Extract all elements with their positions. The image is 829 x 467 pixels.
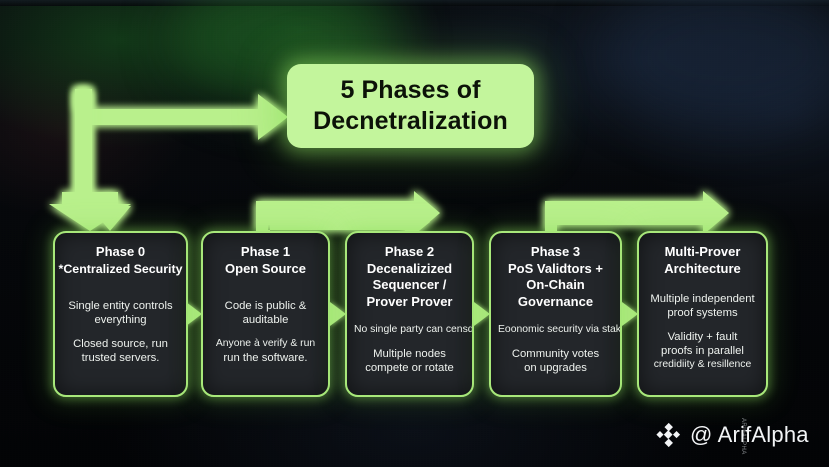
phase-card-4-heading-1: Architecture — [664, 261, 741, 278]
phase-card-3-line-3: on upgrades — [498, 361, 613, 375]
phase-card-2-spacer — [354, 337, 465, 347]
phase-card-4[interactable]: Multi-Prover Architecture Multiple indep… — [637, 231, 768, 397]
phase-card-3-heading-0: Phase 3 — [531, 244, 580, 261]
phase-card-1-heading-0: Phase 1 — [241, 244, 290, 261]
phase-card-4-line-0: Multiple independent — [646, 292, 759, 306]
phase-card-3-line-2: Community votes — [498, 347, 613, 361]
phase-card-2-line-2: Multiple nodes — [354, 347, 465, 361]
phase-card-3-body: Eoonomic security via staking Community … — [498, 323, 613, 375]
phase-card-0-line-3: Closed source, run — [62, 337, 179, 351]
phase-card-0-line-0: Single entity controls — [62, 299, 179, 313]
phase-card-1-spacer — [210, 327, 321, 337]
page-title-line-1: 5 Phases of — [340, 75, 480, 106]
phase-card-1-line-0: Code is public & — [210, 299, 321, 313]
phase-card-3-heading-3: Governance — [518, 294, 593, 311]
phase-card-2-heading-2: Sequencer / — [373, 277, 447, 294]
binance-diamond-logo-icon — [655, 422, 681, 448]
watermark: @ ArifAlpha ARIFALPHA — [655, 422, 809, 448]
page-title-line-2: Decnetralization — [313, 106, 508, 137]
phase-card-3[interactable]: Phase 3 PoS Validtors + On-Chain Governa… — [489, 231, 622, 397]
phase-card-4-body: Multiple independent proof systems Valid… — [646, 292, 759, 372]
phase-card-0-line-1: everything — [62, 313, 179, 327]
phase-card-1-body: Code is public & auditable Anyone à veri… — [210, 299, 321, 365]
phase-card-2-line-3: compete or rotate — [354, 361, 465, 375]
phase-card-4-heading-0: Multi-Prover — [665, 244, 741, 261]
phase-card-0-spacer — [62, 327, 179, 337]
phase-card-1-heading-1: Open Source — [225, 261, 306, 278]
phase-card-4-spacer — [646, 320, 759, 330]
phase-card-0-heading-0: Phase 0 — [96, 244, 145, 261]
phase-card-3-heading-2: On-Chain — [526, 277, 585, 294]
phase-card-0-body: Single entity controls everything Closed… — [62, 299, 179, 365]
phase-card-2-heading-0: Phase 2 — [385, 244, 434, 261]
watermark-handle: @ ArifAlpha — [690, 422, 809, 448]
phase-card-1-line-1: auditable — [210, 313, 321, 327]
phase-card-1-line-4: run the software. — [210, 351, 321, 365]
phase-card-1-line-3: Anyone à verify & run — [210, 337, 321, 351]
phase-card-1[interactable]: Phase 1 Open Source Code is public & aud… — [201, 231, 330, 397]
phase-card-0-line-4: trusted servers. — [62, 351, 179, 365]
phase-card-3-line-0: Eoonomic security via staking — [498, 323, 613, 337]
phase-card-2[interactable]: Phase 2 Decenalizized Sequencer / Prover… — [345, 231, 474, 397]
phase-card-3-heading-1: PoS Validtors + — [508, 261, 603, 278]
phase-card-3-spacer — [498, 337, 613, 347]
phase-card-0[interactable]: Phase 0 *Centralized Security Single ent… — [53, 231, 188, 397]
phase-card-2-body: No single party can censdor Multiple nod… — [354, 323, 465, 375]
phase-card-4-line-5: credidiity & resillence — [646, 358, 759, 372]
phase-card-0-heading-1: *Centralized Security — [59, 261, 183, 278]
phase-card-4-line-4: proofs in parallel — [646, 344, 759, 358]
phase-card-2-heading-3: Prover Prover — [367, 294, 453, 311]
phase-card-2-line-0: No single party can censdor — [354, 323, 465, 337]
page-title: 5 Phases of Decnetralization — [287, 64, 534, 148]
phase-card-2-heading-1: Decenalizized — [367, 261, 452, 278]
phase-card-4-line-1: proof systems — [646, 306, 759, 320]
phase-card-4-line-3: Validity + fault — [646, 330, 759, 344]
